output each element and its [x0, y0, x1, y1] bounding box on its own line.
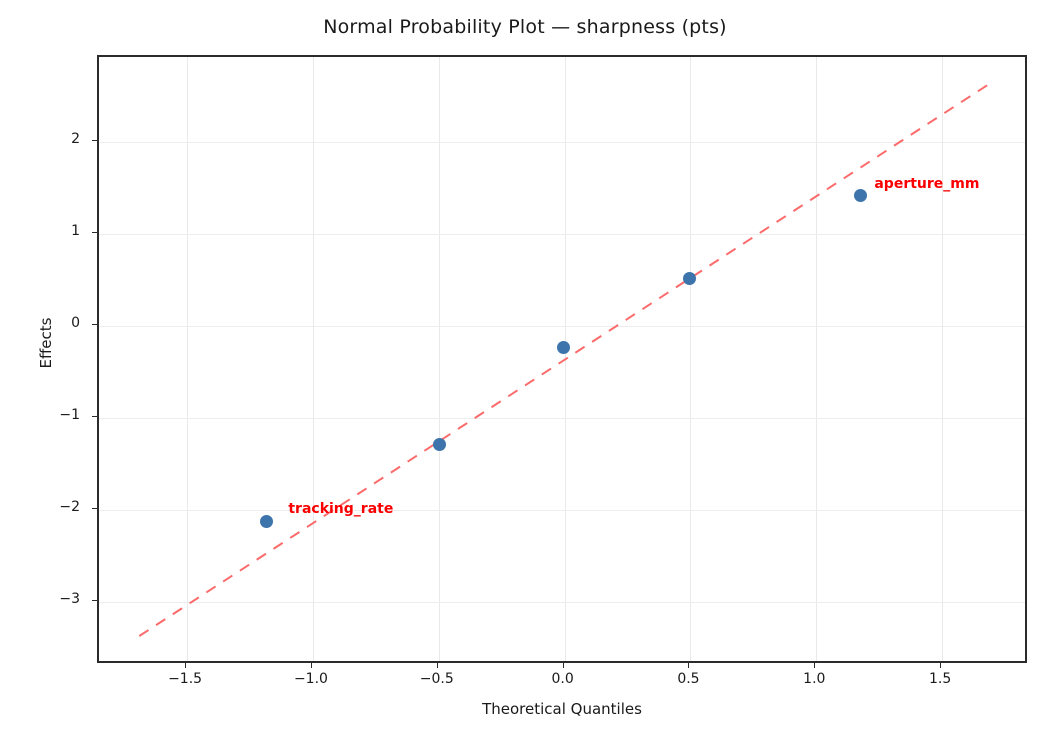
y-tick-mark	[92, 140, 97, 141]
y-tick-mark	[92, 600, 97, 601]
plot-area: tracking_rateaperture_mm	[97, 55, 1027, 663]
point-label: tracking_rate	[288, 501, 393, 517]
point-label: aperture_mm	[874, 176, 979, 192]
y-tick-mark	[92, 232, 97, 233]
x-tick-mark	[814, 663, 815, 668]
y-tick-label: 2	[0, 131, 80, 147]
y-tick-mark	[92, 508, 97, 509]
normal-probability-plot-figure: Normal Probability Plot — sharpness (pts…	[0, 0, 1050, 750]
data-point	[557, 341, 570, 354]
y-tick-label: −3	[0, 591, 80, 607]
x-tick-label: 0.0	[523, 671, 603, 687]
reference-line-segment	[139, 85, 987, 636]
x-tick-label: 1.0	[774, 671, 854, 687]
x-tick-label: −1.0	[271, 671, 351, 687]
y-tick-label: −2	[0, 499, 80, 515]
x-tick-label: 1.5	[900, 671, 980, 687]
y-tick-mark	[92, 416, 97, 417]
y-tick-mark	[92, 324, 97, 325]
x-tick-mark	[563, 663, 564, 668]
x-tick-mark	[437, 663, 438, 668]
y-tick-label: 1	[0, 223, 80, 239]
x-axis-label: Theoretical Quantiles	[97, 700, 1027, 718]
x-tick-mark	[311, 663, 312, 668]
reference-line	[99, 57, 1027, 663]
x-tick-label: −1.5	[145, 671, 225, 687]
x-tick-mark	[185, 663, 186, 668]
x-tick-label: −0.5	[397, 671, 477, 687]
x-tick-label: 0.5	[648, 671, 728, 687]
x-tick-mark	[940, 663, 941, 668]
data-point	[260, 515, 273, 528]
chart-title: Normal Probability Plot — sharpness (pts…	[0, 16, 1050, 38]
data-point	[683, 272, 696, 285]
x-tick-mark	[688, 663, 689, 668]
y-axis-label: Effects	[37, 273, 55, 413]
